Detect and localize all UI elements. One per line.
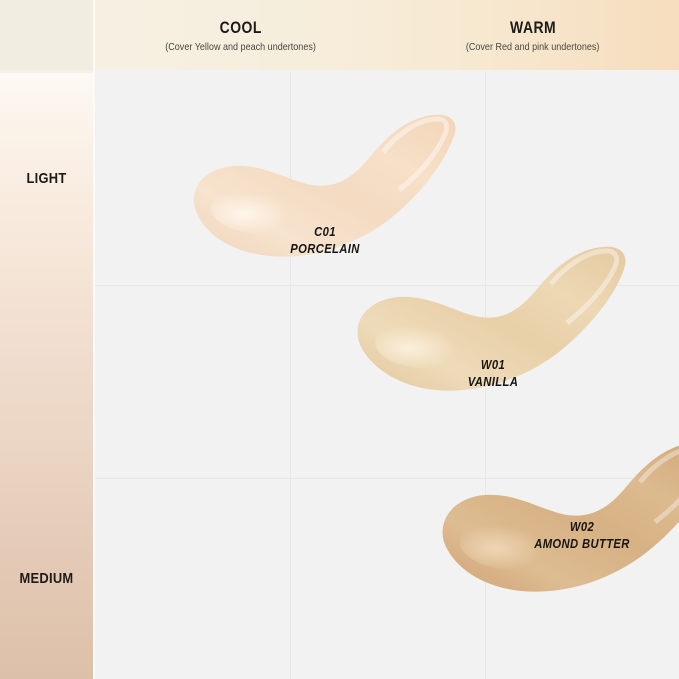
swatch-code-c01: C01 [253,224,397,241]
swatch-code-w02: W02 [497,519,668,536]
gridline-horizontal-2 [95,478,679,479]
depth-label-medium: MEDIUM [7,570,87,587]
depth-sidebar [0,73,93,679]
header-subtitle-cool: (Cover Yellow and peach undertones) [166,41,317,53]
swatch-label-c01: C01 PORCELAIN [253,224,397,258]
swatch-label-w01: W01 VANILLA [421,357,565,391]
swatch-label-w02: W02 AMOND BUTTER [497,519,668,553]
header-column-warm: WARM (Cover Red and pink undertones) [387,0,679,70]
gridline-horizontal-1 [95,285,679,286]
header-subtitle-warm: (Cover Red and pink undertones) [466,41,600,53]
swatch-code-w01: W01 [421,357,565,374]
chart-corner-block [0,0,93,70]
header-title-cool: COOL [220,18,262,38]
swatch-name-w01: VANILLA [421,374,565,391]
swatch-name-c01: PORCELAIN [253,241,397,258]
depth-label-light: LIGHT [7,170,87,187]
swatch-grid: C01 PORCELAIN [95,72,679,679]
undertone-header: COOL (Cover Yellow and peach undertones)… [95,0,679,70]
header-column-cool: COOL (Cover Yellow and peach undertones) [95,0,387,70]
header-title-warm: WARM [510,18,556,38]
gridline-vertical-1 [290,72,291,679]
swatch-name-w02: AMOND BUTTER [497,536,668,553]
shade-finder-chart: COOL (Cover Yellow and peach undertones)… [0,0,679,679]
